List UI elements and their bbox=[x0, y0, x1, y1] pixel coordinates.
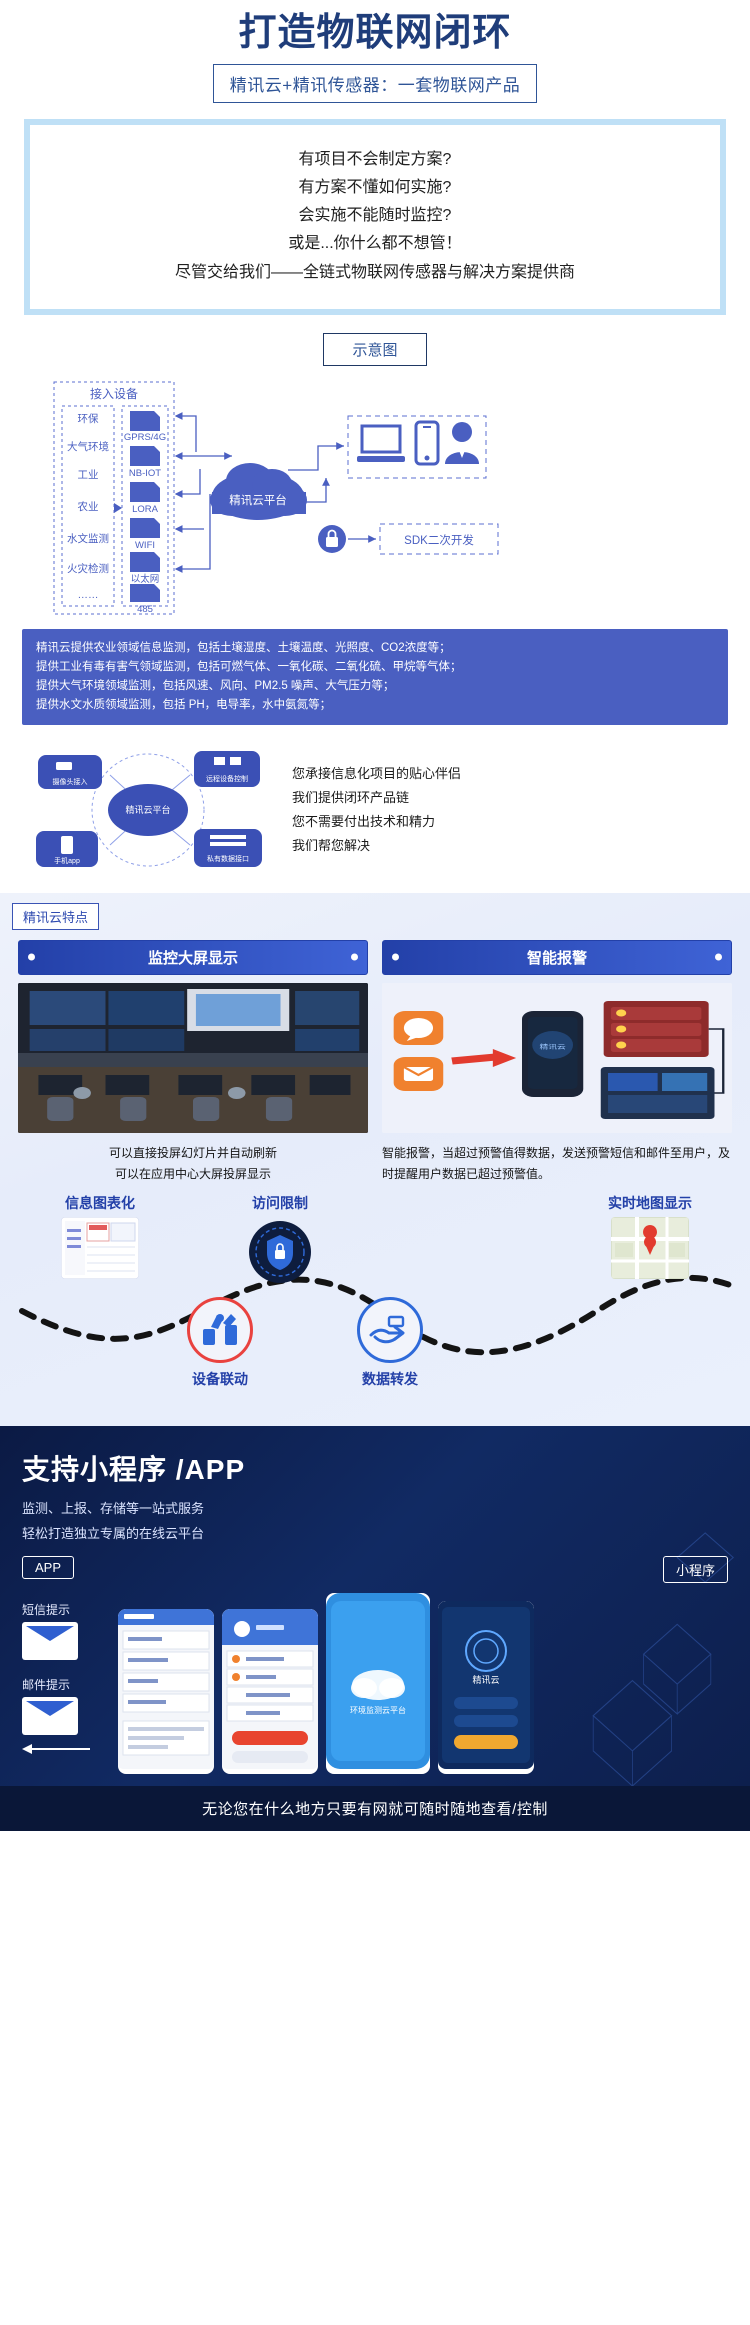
alarm-illustration: 精讯云 bbox=[382, 983, 732, 1133]
hub-copy: 您承接信息化项目的贴心伴侣 我们提供闭环产品链 您不需要付出技术和精力 我们帮您… bbox=[278, 762, 732, 858]
app-list-screen bbox=[118, 1609, 214, 1769]
protocol-item: GPRS/4G bbox=[124, 411, 166, 443]
cloud-platform-icon bbox=[210, 463, 307, 520]
hub-node-camera: 摄像头接入 bbox=[38, 755, 102, 789]
category-label: 环保 bbox=[78, 412, 99, 425]
alarm-devices-illustration: 精讯云 bbox=[382, 983, 732, 1133]
app-screenshots: 环境监测云平台 精讯云 bbox=[118, 1593, 534, 1774]
notify-column: 短信提示 邮件提示 bbox=[22, 1593, 108, 1762]
svg-text:LORA: LORA bbox=[132, 504, 159, 515]
dashboard-panel bbox=[601, 1067, 715, 1119]
icon-feature-label: 访问限制 bbox=[215, 1193, 345, 1213]
infographic-page: 打造物联网闭环 精讯云+精讯传感器：一套物联网产品 有项目不会制定方案? 有方案… bbox=[0, 0, 750, 1831]
mini-program-title: 支持小程序 /APP bbox=[22, 1448, 728, 1488]
question-line: 有方案不懂如何实施? bbox=[40, 178, 710, 197]
hub-center-label: 精讯云平台 bbox=[125, 804, 170, 815]
mail-envelope-icon bbox=[22, 1697, 78, 1735]
app-screenshot-cloud: 环境监测云平台 bbox=[326, 1593, 430, 1774]
svg-text:NB-IOT: NB-IOT bbox=[129, 468, 161, 479]
footer-banner: 无论您在什么地方只要有网就可随时随地查看/控制 bbox=[0, 1786, 750, 1831]
icon-feature-linkage[interactable]: 设备联动 bbox=[160, 1297, 280, 1389]
icon-feature-forward[interactable]: 数据转发 bbox=[330, 1297, 450, 1389]
svg-text:WIFI: WIFI bbox=[135, 540, 155, 551]
hub-node-remote-control: 远程设备控制 bbox=[194, 751, 260, 787]
app-screenshot-profile bbox=[222, 1609, 318, 1774]
hub-node-mobile-app: 手机app bbox=[36, 831, 98, 867]
app-chip: APP bbox=[22, 1556, 74, 1579]
svg-text:摄像头接入: 摄像头接入 bbox=[53, 777, 88, 786]
question-line: 或是...你什么都不想管！ bbox=[40, 234, 710, 253]
question-panel-wrap: 有项目不会制定方案? 有方案不懂如何实施? 会实施不能随时监控? 或是...你什… bbox=[0, 103, 750, 319]
category-label: 工业 bbox=[78, 469, 99, 481]
mail-label: 邮件提示 bbox=[22, 1676, 108, 1693]
svg-text:精讯云: 精讯云 bbox=[540, 1042, 567, 1050]
map-thumb-icon bbox=[611, 1217, 689, 1279]
category-label: …… bbox=[78, 589, 99, 601]
protocol-item: 485 bbox=[130, 584, 160, 615]
mini-program-line1: 监测、上报、存储等一站式服务 bbox=[22, 1498, 728, 1517]
shield-lock-icon bbox=[215, 1219, 345, 1290]
hub-copy-line: 您不需要付出技术和精力 bbox=[292, 810, 732, 834]
left-arrow-icon bbox=[22, 1741, 92, 1757]
svg-text:远程设备控制: 远程设备控制 bbox=[206, 774, 248, 783]
hub-copy-line: 您承接信息化项目的贴心伴侣 bbox=[292, 762, 732, 786]
access-devices-title: 接入设备 bbox=[90, 386, 138, 401]
feature-caption-text: 智能报警，当超过预警值得数据，发送预警短信和邮件至用户，及时提醒用户数据已超过预… bbox=[382, 1143, 732, 1185]
icon-feature-access[interactable]: 访问限制 bbox=[215, 1193, 345, 1290]
capability-description: 精讯云提供农业领域信息监测，包括土壤湿度、土壤温度、光照度、CO2浓度等； 提供… bbox=[22, 629, 728, 725]
hero-section: 打造物联网闭环 精讯云+精讯传感器：一套物联网产品 bbox=[0, 0, 750, 103]
feature-card-caption: 可以直接投屏幻灯片并自动刷新 可以在应用中心大屏投屏显示 bbox=[18, 1143, 368, 1185]
icon-feature-label: 数据转发 bbox=[330, 1369, 450, 1389]
mail-icon bbox=[394, 1057, 444, 1091]
category-label: 大气环境 bbox=[67, 440, 109, 453]
svg-text:私有数据接口: 私有数据接口 bbox=[207, 854, 249, 863]
chat-icon bbox=[394, 1011, 444, 1045]
mini-program-section: 支持小程序 /APP 监测、上报、存储等一站式服务 轻松打造独立专属的在线云平台… bbox=[0, 1426, 750, 1786]
control-room-illustration bbox=[18, 983, 368, 1133]
map-thumb-svg bbox=[611, 1217, 689, 1279]
mini-program-screen: 精讯云 bbox=[438, 1601, 534, 1769]
diagram-svg: SDK二次开发 接入设备 环保 大气环境 工业 农业 水文监测 火灾检测 …… … bbox=[0, 374, 750, 619]
feature-caption-text: 可以直接投屏幻灯片并自动刷新 可以在应用中心大屏投屏显示 bbox=[18, 1143, 368, 1185]
icon-feature-label: 设备联动 bbox=[160, 1369, 280, 1389]
hub-svg: 精讯云平台 摄像头接入 远程设备控制 手机app bbox=[18, 745, 278, 875]
sms-label: 短信提示 bbox=[22, 1601, 108, 1618]
feature-cards: 监控大屏显示 bbox=[0, 930, 750, 1185]
features-section: 精讯云特点 监控大屏显示 bbox=[0, 893, 750, 1426]
diagram-tag: 示意图 bbox=[323, 333, 426, 366]
question-line-conclusion: 尽管交给我们——全链式物联网传感器与解决方案提供商 bbox=[40, 263, 710, 282]
cloud-platform-label: 精讯云平台 bbox=[229, 493, 287, 507]
hub-copy-line: 我们帮您解决 bbox=[292, 834, 732, 858]
hub-node-data-api: 私有数据接口 bbox=[194, 829, 262, 867]
diagram-tag-wrap: 示意图 bbox=[0, 333, 750, 366]
gears-icon bbox=[187, 1297, 253, 1363]
gears-svg bbox=[197, 1307, 243, 1353]
capability-line: 提供工业有毒有害气领域监测，包括可燃气体、一氧化碳、二氧化硫、甲烷等气体； bbox=[36, 658, 714, 677]
mini-program-screenshot: 精讯云 bbox=[438, 1601, 534, 1774]
smartphone-icon bbox=[416, 422, 438, 464]
app-profile-screen bbox=[222, 1609, 318, 1769]
protocol-item: NB-IOT bbox=[129, 446, 161, 479]
capability-line: 精讯云提供农业领域信息监测，包括土壤湿度、土壤温度、光照度、CO2浓度等； bbox=[36, 639, 714, 658]
category-label: 农业 bbox=[78, 500, 99, 513]
icon-feature-map[interactable]: 实时地图显示 bbox=[580, 1193, 720, 1279]
hub-copy-line: 我们提供闭环产品链 bbox=[292, 786, 732, 810]
app-screenshot-list bbox=[118, 1609, 214, 1774]
architecture-diagram: SDK二次开发 接入设备 环保 大气环境 工业 农业 水文监测 火灾检测 …… … bbox=[0, 374, 750, 619]
handoff-icon bbox=[357, 1297, 423, 1363]
hero-subtitle-wrap: 精讯云+精讯传感器：一套物联网产品 bbox=[0, 64, 750, 103]
category-label: 水文监测 bbox=[67, 532, 109, 545]
brand-label: 精讯云 bbox=[472, 1674, 499, 1685]
svg-text:以太网: 以太网 bbox=[131, 573, 160, 585]
handoff-svg bbox=[367, 1307, 413, 1353]
question-line: 有项目不会制定方案? bbox=[40, 150, 710, 169]
protocol-item: WIFI bbox=[130, 518, 160, 551]
svg-text:485: 485 bbox=[137, 604, 153, 615]
category-label: 火灾检测 bbox=[67, 562, 109, 575]
protocol-item: LORA bbox=[130, 482, 160, 515]
page-title: 打造物联网闭环 bbox=[0, 14, 750, 54]
alert-list-panel bbox=[604, 1001, 709, 1057]
chart-thumb-icon bbox=[61, 1217, 139, 1279]
mini-program-chip: 小程序 bbox=[663, 1556, 728, 1583]
feature-card-caption: 智能报警，当超过预警值得数据，发送预警短信和邮件至用户，及时提醒用户数据已超过预… bbox=[382, 1143, 732, 1185]
feature-card-title: 监控大屏显示 bbox=[18, 940, 368, 975]
question-line: 会实施不能随时监控? bbox=[40, 206, 710, 225]
shield-lock-svg bbox=[243, 1219, 317, 1285]
feature-card-alarm: 智能报警 bbox=[382, 940, 732, 1185]
mini-program-line2: 轻松打造独立专属的在线云平台 bbox=[22, 1523, 728, 1542]
svg-text:GPRS/4G: GPRS/4G bbox=[124, 432, 166, 443]
cloud-hub-diagram: 精讯云平台 摄像头接入 远程设备控制 手机app bbox=[18, 745, 278, 875]
feature-card-monitor: 监控大屏显示 bbox=[18, 940, 368, 1185]
svg-text:手机app: 手机app bbox=[54, 856, 80, 865]
capability-line: 提供大气环境领域监测，包括风速、风向、PM2.5 噪声、大气压力等； bbox=[36, 677, 714, 696]
control-room-photo bbox=[18, 983, 368, 1133]
lock-icon bbox=[318, 525, 346, 553]
feature-card-title: 智能报警 bbox=[382, 940, 732, 975]
icon-features-section: 信息图表化 访问限制 bbox=[0, 1189, 750, 1404]
protocol-item: 以太网 bbox=[130, 552, 160, 585]
smartphone-illustration: 精讯云 bbox=[522, 1011, 583, 1097]
features-section-tag: 精讯云特点 bbox=[12, 903, 99, 930]
icon-feature-label: 实时地图显示 bbox=[580, 1193, 720, 1213]
icon-feature-label: 信息图表化 bbox=[40, 1193, 160, 1213]
cloud-phone-label: 环境监测云平台 bbox=[350, 1705, 406, 1715]
chart-thumb-svg bbox=[61, 1217, 139, 1279]
question-panel: 有项目不会制定方案? 有方案不懂如何实施? 会实施不能随时监控? 或是...你什… bbox=[24, 119, 726, 315]
laptop-icon bbox=[357, 426, 405, 462]
hub-section: 精讯云平台 摄像头接入 远程设备控制 手机app bbox=[18, 745, 732, 875]
hero-subtitle: 精讯云+精讯传感器：一套物联网产品 bbox=[213, 64, 537, 103]
capability-line: 提供水文水质领域监测，包括 PH，电导率，水中氨氮等； bbox=[36, 696, 714, 715]
sdk-label: SDK二次开发 bbox=[404, 533, 474, 547]
sms-envelope-icon bbox=[22, 1622, 78, 1660]
user-icon bbox=[445, 422, 479, 464]
icon-feature-charts[interactable]: 信息图表化 bbox=[40, 1193, 160, 1279]
cloud-platform-screen: 环境监测云平台 bbox=[326, 1593, 430, 1769]
